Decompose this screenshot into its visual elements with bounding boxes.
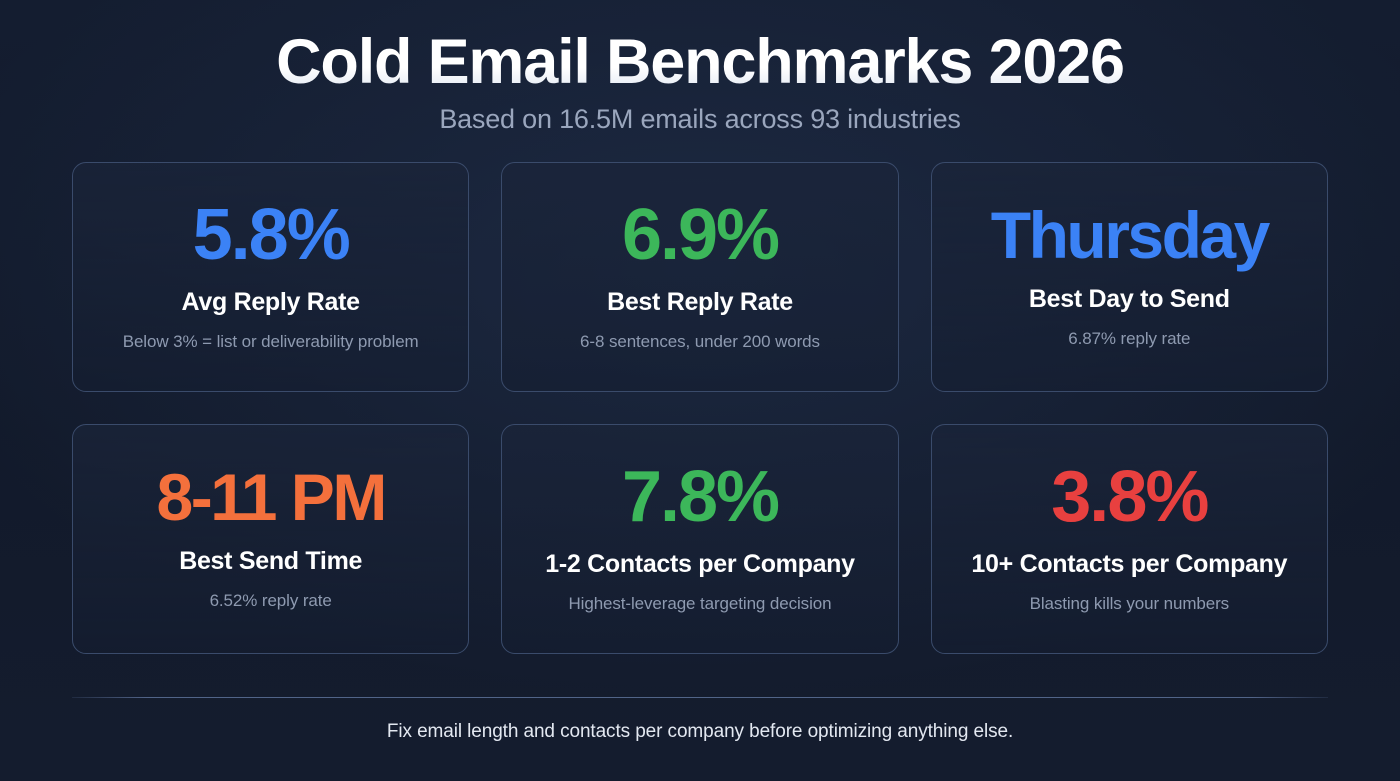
stat-note: Below 3% = list or deliverability proble…	[123, 332, 419, 352]
footer-note: Fix email length and contacts per compan…	[72, 721, 1328, 743]
stat-note: 6-8 sentences, under 200 words	[580, 332, 820, 352]
stat-value: 6.9%	[622, 199, 778, 271]
stat-card-best-send-time: 8-11 PM Best Send Time 6.52% reply rate	[72, 424, 469, 654]
stat-label: 10+ Contacts per Company	[971, 551, 1287, 579]
stat-note: 6.87% reply rate	[1068, 329, 1190, 349]
stat-value: 3.8%	[1051, 461, 1207, 533]
stat-value: 5.8%	[193, 199, 349, 271]
infographic-page: Cold Email Benchmarks 2026 Based on 16.5…	[0, 0, 1400, 781]
stat-card-grid: 5.8% Avg Reply Rate Below 3% = list or d…	[72, 162, 1328, 654]
stat-card-avg-reply-rate: 5.8% Avg Reply Rate Below 3% = list or d…	[72, 162, 469, 392]
stat-note: Blasting kills your numbers	[1030, 594, 1230, 614]
stat-card-10-plus-contacts-per-company: 3.8% 10+ Contacts per Company Blasting k…	[931, 424, 1328, 654]
footer-divider	[72, 697, 1328, 698]
stat-label: Best Reply Rate	[607, 289, 793, 317]
stat-note: 6.52% reply rate	[210, 591, 332, 611]
stat-label: 1-2 Contacts per Company	[545, 551, 855, 579]
stat-card-best-reply-rate: 6.9% Best Reply Rate 6-8 sentences, unde…	[501, 162, 898, 392]
stat-note: Highest-leverage targeting decision	[568, 594, 831, 614]
stat-value: Thursday	[991, 202, 1268, 268]
stat-label: Best Day to Send	[1029, 286, 1230, 314]
page-header: Cold Email Benchmarks 2026 Based on 16.5…	[72, 0, 1328, 133]
page-title: Cold Email Benchmarks 2026	[72, 31, 1328, 94]
stat-card-best-day-to-send: Thursday Best Day to Send 6.87% reply ra…	[931, 162, 1328, 392]
stat-value: 7.8%	[622, 461, 778, 533]
page-subtitle: Based on 16.5M emails across 93 industri…	[72, 105, 1328, 133]
stat-label: Avg Reply Rate	[182, 289, 360, 317]
stat-label: Best Send Time	[179, 548, 362, 576]
stat-value: 8-11 PM	[157, 464, 385, 530]
stat-card-1-2-contacts-per-company: 7.8% 1-2 Contacts per Company Highest-le…	[501, 424, 898, 654]
